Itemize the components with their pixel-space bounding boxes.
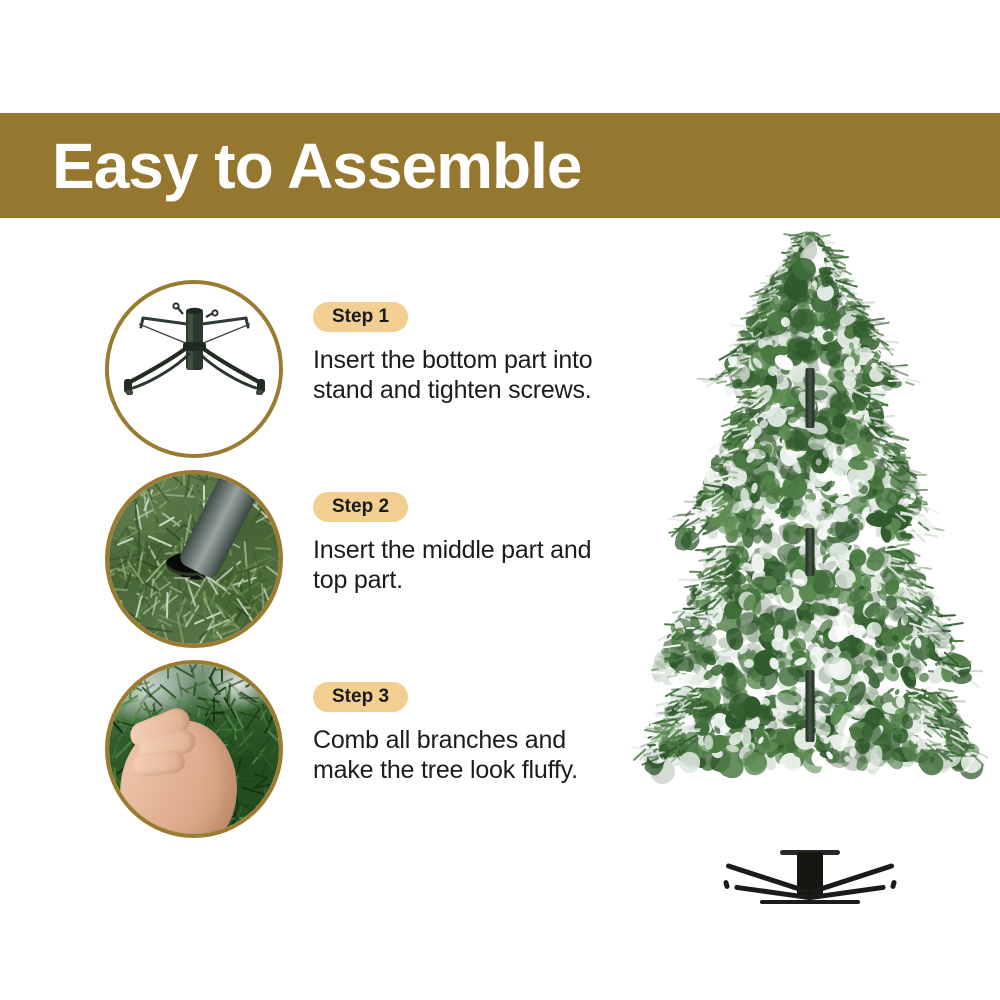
pine-needle [138,528,140,555]
tree-needle [896,543,910,547]
tree-foliage-sprig [811,602,830,615]
tree-needle [894,366,906,368]
tree-needle [883,545,893,547]
pine-needle [114,474,120,478]
tree-needle [646,744,655,746]
tree-needle [935,638,947,640]
step-2-description: Insert the middle part and top part. [313,536,613,595]
branch-socket-icon [109,474,279,644]
tree-needle [783,243,797,245]
tree-foliage-sprig [816,528,827,539]
tree-foliage-sprig [798,303,805,308]
step-1-thumbnail [105,280,283,458]
tree-needle [887,350,900,357]
tree-needle [929,614,940,616]
pine-needle [272,699,279,706]
tree-stand-icon [109,284,279,454]
stand-foot [723,879,730,889]
tree-needle [746,390,753,392]
pine-needle [215,666,238,671]
status-badge: Step 2 [313,492,408,522]
pine-needle [169,697,193,708]
tree-needle [923,687,930,690]
step-row: Step 3 Comb all branches and make the tr… [0,660,620,850]
pine-needle [197,708,201,718]
pine-needle [255,547,271,550]
pine-needle [115,829,130,831]
step-1-text: Step 1 Insert the bottom part into stand… [313,280,613,405]
pine-needle [186,708,197,711]
pine-needle [165,494,196,498]
tree-needle [714,480,721,483]
tree-foliage-sprig [770,393,778,404]
pine-needle [277,523,279,550]
page-title: Easy to Assemble [52,134,581,198]
tree-foliage-sprig [868,520,874,525]
tree-needle [780,267,787,270]
pine-needle [114,633,121,644]
pine-needle [237,664,256,668]
step-2-thumbnail [105,470,283,648]
tree-foliage-sprig [896,695,906,708]
pine-needle [201,664,204,675]
tree-foliage-sprig [787,336,810,360]
pine-needle [113,664,123,666]
tree-trunk-upper [806,368,815,428]
pine-needle [143,664,146,680]
christmas-tree-image [620,218,1000,918]
pine-needle [242,780,254,783]
step-row: Step 1 Insert the bottom part into stand… [0,280,620,470]
steps-section: Step 1 Insert the bottom part into stand… [0,218,620,838]
stand-crossbar [760,900,860,904]
tree-needle [902,524,912,526]
pine-needle [263,785,267,804]
tree-trunk-middle [806,528,815,576]
tree-foliage-sprig [865,511,891,527]
step-2-text: Step 2 Insert the middle part and top pa… [313,470,613,595]
tree-needle [678,738,690,740]
pine-needle [209,667,216,679]
pine-needle [251,832,258,834]
pine-needle [262,687,273,690]
hand-combing-icon [109,664,279,834]
step-3-description: Comb all branches and make the tree look… [313,726,613,785]
pine-needle [176,672,183,697]
tree-foliage-sprig [894,688,900,695]
tree-trunk-lower [806,670,815,742]
tree-stand [720,852,900,914]
pine-needle [278,805,279,819]
tree-needle [881,415,895,418]
pine-needle [247,634,257,644]
tree-foliage-sprig [880,631,888,639]
tree-needle [686,627,695,629]
step-row: Step 2 Insert the middle part and top pa… [0,470,620,660]
tree-needle [917,631,938,634]
pine-needle [278,615,279,644]
tree-needle [674,647,681,650]
pine-needle [109,737,112,749]
pine-needle [277,758,279,767]
tree-needle [959,725,976,728]
pine-needle [157,643,170,644]
pine-needle [159,684,176,699]
pine-needle [151,664,164,670]
status-badge: Step 1 [313,302,408,332]
tree-needle [928,670,935,673]
status-badge: Step 3 [313,682,408,712]
tree-needle [901,561,910,564]
tree-needle [729,368,740,371]
tree-foliage-sprig [820,541,827,555]
tree-foliage-sprig [851,582,859,590]
tree-foliage-sprig [785,572,791,580]
tree-needle [965,744,975,746]
pine-needle [265,828,272,834]
step-3-thumbnail [105,660,283,838]
pine-needle [167,664,169,679]
tree-needle [923,533,938,538]
pine-needle [277,587,279,601]
tree-stand-illustration [109,284,279,454]
pine-needle [141,630,159,644]
pine-needle [146,541,148,562]
tree-needle [916,489,928,491]
pine-needle [266,629,268,640]
step-1-description: Insert the bottom part into stand and ti… [313,346,613,405]
pine-needle [221,667,223,682]
tree-needle [884,447,903,449]
tree-foliage-sprig [744,672,752,677]
tree-needle [951,640,964,642]
pine-needle [134,631,138,644]
tree-needle [650,723,661,727]
tree-needle [970,754,977,756]
step-3-text: Step 3 Comb all branches and make the tr… [313,660,613,785]
tree-needle [664,623,675,626]
header-banner: Easy to Assemble [0,113,1000,218]
pine-needle [134,474,143,476]
product-feature-image: Easy to Assemble [0,0,1000,1000]
stand-foot [890,879,897,889]
pine-needle [109,573,115,578]
